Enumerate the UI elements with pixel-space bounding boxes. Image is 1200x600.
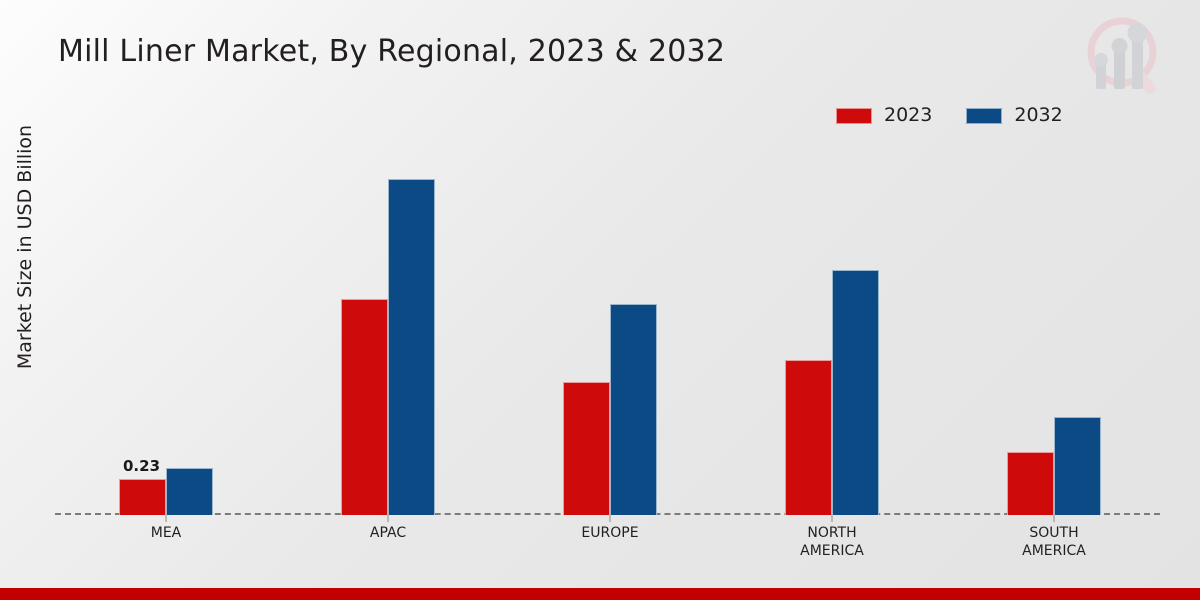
bar-2023-north-america[interactable] xyxy=(785,360,832,515)
x-axis-label-apac: APAC xyxy=(277,524,499,542)
chart-legend: 2023 2032 xyxy=(836,106,1063,125)
bar-group-mea: 0.23MEA xyxy=(55,140,277,515)
bar-2023-europe[interactable] xyxy=(563,382,610,515)
footer-accent-bar xyxy=(0,588,1200,600)
bars xyxy=(341,179,435,515)
legend-swatch-2023 xyxy=(836,108,872,124)
x-axis-label-line: MEA xyxy=(55,524,277,542)
bar-group-apac: APAC xyxy=(277,140,499,515)
bar-2032-europe[interactable] xyxy=(610,304,657,515)
bars xyxy=(563,304,657,515)
x-axis-label-line: EUROPE xyxy=(499,524,721,542)
x-axis-label-line: SOUTH xyxy=(943,524,1165,542)
bar-2023-apac[interactable] xyxy=(341,299,388,515)
plot-area: 0.23MEAAPACEUROPENORTHAMERICASOUTHAMERIC… xyxy=(55,140,1165,515)
y-axis-title: Market Size in USD Billion xyxy=(14,67,36,427)
bar-2023-mea[interactable] xyxy=(119,479,166,515)
bar-2032-north-america[interactable] xyxy=(832,270,879,515)
x-axis-label-line: APAC xyxy=(277,524,499,542)
chart-title: Mill Liner Market, By Regional, 2023 & 2… xyxy=(58,34,725,69)
bar-groups: 0.23MEAAPACEUROPENORTHAMERICASOUTHAMERIC… xyxy=(55,140,1165,515)
legend-label-2032: 2032 xyxy=(1014,106,1062,125)
legend-item-2032[interactable]: 2032 xyxy=(966,106,1062,125)
x-axis-label-europe: EUROPE xyxy=(499,524,721,542)
data-label-mea-2023: 0.23 xyxy=(123,457,160,475)
bars xyxy=(119,468,213,515)
x-axis-label-south-america: SOUTHAMERICA xyxy=(943,524,1165,560)
x-tick-apac xyxy=(388,515,389,522)
watermark-logo-icon xyxy=(1074,8,1178,104)
bars xyxy=(785,270,879,515)
x-tick-mea xyxy=(166,515,167,522)
legend-label-2023: 2023 xyxy=(884,106,932,125)
x-axis-label-line: NORTH xyxy=(721,524,943,542)
bar-group-south-america: SOUTHAMERICA xyxy=(943,140,1165,515)
bar-2032-mea[interactable] xyxy=(166,468,213,515)
x-axis-label-line: AMERICA xyxy=(943,542,1165,560)
bar-2023-south-america[interactable] xyxy=(1007,452,1054,515)
bar-2032-south-america[interactable] xyxy=(1054,417,1101,515)
legend-item-2023[interactable]: 2023 xyxy=(836,106,932,125)
bar-group-europe: EUROPE xyxy=(499,140,721,515)
x-tick-north-america xyxy=(832,515,833,522)
x-tick-europe xyxy=(610,515,611,522)
bars xyxy=(1007,417,1101,515)
x-axis-label-north-america: NORTHAMERICA xyxy=(721,524,943,560)
x-tick-south-america xyxy=(1054,515,1055,522)
bar-2032-apac[interactable] xyxy=(388,179,435,515)
bar-group-north-america: NORTHAMERICA xyxy=(721,140,943,515)
legend-swatch-2032 xyxy=(966,108,1002,124)
chart-canvas: Mill Liner Market, By Regional, 2023 & 2… xyxy=(0,0,1200,600)
x-axis-label-line: AMERICA xyxy=(721,542,943,560)
x-axis-label-mea: MEA xyxy=(55,524,277,542)
